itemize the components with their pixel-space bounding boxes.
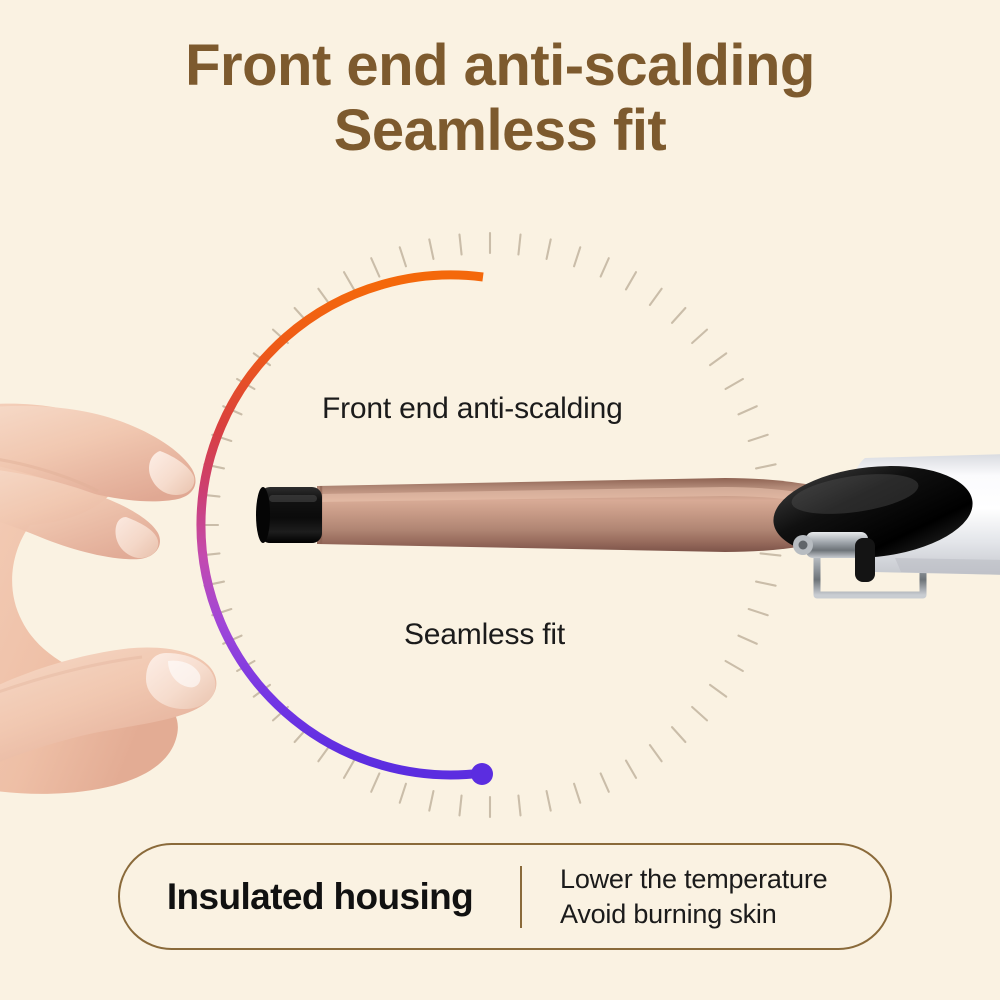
product-feature-graphic: Front end anti-scalding Seamless fit [0,0,1000,1000]
clamp-stem [855,538,875,582]
hinge-pin-inner [799,541,808,550]
hand-illustration [0,395,270,815]
arc-endpoint-dot [471,763,493,785]
title-line-2: Seamless fit [0,99,1000,164]
title-line-1: Front end anti-scalding [0,34,1000,99]
banner-subtext-line-2: Avoid burning skin [560,897,890,932]
insulated-tip-highlight [269,495,317,502]
insulated-housing-banner: Insulated housing Lower the temperature … [118,843,892,950]
banner-headline: Insulated housing [120,876,520,918]
banner-subtext-line-1: Lower the temperature [560,862,890,897]
curling-iron-product-image [255,440,1000,615]
callout-front-end-anti-scalding: Front end anti-scalding [322,392,623,426]
callout-seamless-fit: Seamless fit [404,618,565,652]
banner-subtext: Lower the temperature Avoid burning skin [522,862,890,931]
page-title: Front end anti-scalding Seamless fit [0,34,1000,164]
